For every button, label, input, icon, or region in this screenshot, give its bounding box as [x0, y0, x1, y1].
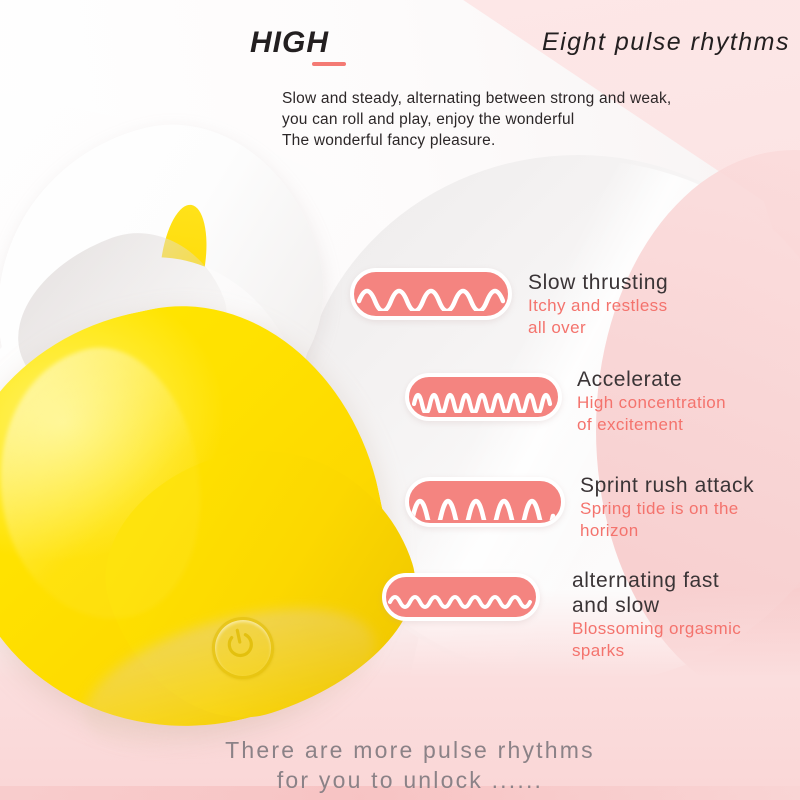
footer: There are more pulse rhythms for you to …: [150, 735, 670, 795]
page-title: Eight pulse rhythms: [542, 28, 790, 57]
feature-subtitle-line-2: all over: [528, 317, 668, 339]
product-image: [0, 120, 420, 740]
feature-subtitle: Blossoming orgasmic sparks: [572, 618, 741, 662]
feature-title-line-2: and slow: [572, 593, 741, 618]
description-line-1: Slow and steady, alternating between str…: [282, 88, 800, 109]
feature-subtitle: Spring tide is on the horizon: [580, 498, 754, 542]
feature-subtitle-line-1: Blossoming orgasmic: [572, 618, 741, 640]
feature-text: alternating fast and slow Blossoming org…: [572, 568, 741, 662]
feature-text: Accelerate High concentration of excitem…: [577, 367, 726, 436]
product-feature-poster: HIGH Eight pulse rhythms Slow and steady…: [0, 0, 800, 800]
feature-title: Slow thrusting: [528, 270, 668, 295]
feature-subtitle: Itchy and restless all over: [528, 295, 668, 339]
feature-row: Sprint rush attack Spring tide is on the…: [405, 477, 800, 557]
feature-subtitle-line-2: sparks: [572, 640, 741, 662]
feature-subtitle-line-1: High concentration: [577, 392, 726, 414]
feature-subtitle: High concentration of excitement: [577, 392, 726, 436]
feature-title: Sprint rush attack: [580, 473, 754, 498]
waveform-icon: [382, 573, 540, 621]
description-line-2: you can roll and play, enjoy the wonderf…: [282, 109, 800, 130]
high-underline: [312, 62, 346, 66]
waveform-icon: [405, 373, 562, 421]
waveform-icon: [350, 268, 512, 320]
feature-title: Accelerate: [577, 367, 726, 392]
waveform-icon: [405, 477, 565, 527]
feature-text: Sprint rush attack Spring tide is on the…: [580, 473, 754, 542]
feature-row: alternating fast and slow Blossoming org…: [382, 573, 800, 663]
power-icon: [223, 625, 257, 660]
feature-row: Accelerate High concentration of excitem…: [405, 373, 800, 453]
feature-subtitle-line-1: Itchy and restless: [528, 295, 668, 317]
high-badge: HIGH: [250, 26, 329, 60]
footer-line-1: There are more pulse rhythms: [150, 735, 670, 765]
feature-subtitle-line-2: of excitement: [577, 414, 726, 436]
feature-title: alternating fast: [572, 568, 741, 593]
feature-subtitle-line-1: Spring tide is on the: [580, 498, 754, 520]
feature-subtitle-line-2: horizon: [580, 520, 754, 542]
feature-text: Slow thrusting Itchy and restless all ov…: [528, 270, 668, 339]
header: HIGH Eight pulse rhythms: [250, 26, 790, 70]
footer-line-2: for you to unlock ......: [150, 765, 670, 795]
feature-row: Slow thrusting Itchy and restless all ov…: [350, 268, 790, 348]
description: Slow and steady, alternating between str…: [282, 88, 800, 151]
description-line-3: The wonderful fancy pleasure.: [282, 130, 800, 151]
